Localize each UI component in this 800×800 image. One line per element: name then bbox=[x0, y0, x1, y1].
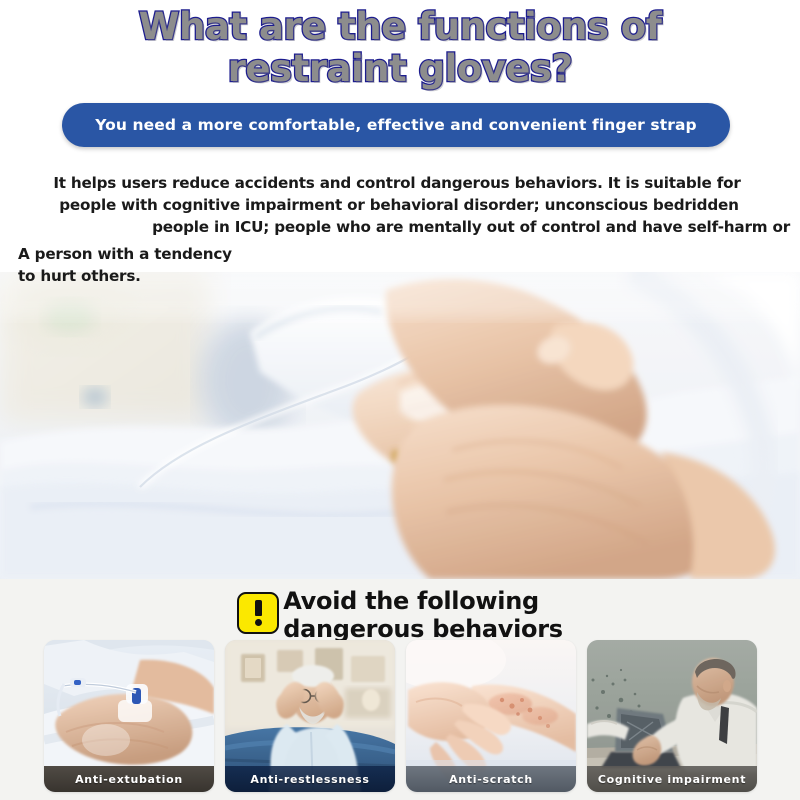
description-line-2: people with cognitive impairment or beha… bbox=[0, 194, 800, 216]
thumbnail-anti-restlessness[interactable]: Anti-restlessness bbox=[225, 640, 395, 792]
hero-photo bbox=[0, 272, 800, 579]
thumbnail-anti-scratch[interactable]: Anti-scratch bbox=[406, 640, 576, 792]
thumbnail-caption: Anti-extubation bbox=[44, 766, 214, 792]
description-line-4: A person with a tendency bbox=[0, 243, 800, 265]
thumbnail-caption: Anti-scratch bbox=[406, 766, 576, 792]
avoid-heading-text: Avoid the following dangerous behaviors bbox=[283, 585, 563, 643]
description-block: It helps users reduce accidents and cont… bbox=[0, 172, 800, 287]
avoid-heading-row: Avoid the following dangerous behaviors bbox=[0, 585, 800, 643]
hero-illustration bbox=[0, 272, 800, 579]
tagline-banner: You need a more comfortable, effective a… bbox=[62, 103, 730, 147]
behavior-thumbnail-row: Anti-extubation bbox=[44, 640, 756, 792]
infographic-page: What are the functions of restraint glov… bbox=[0, 0, 800, 800]
header-section: What are the functions of restraint glov… bbox=[0, 0, 800, 272]
thumbnail-cognitive-impairment[interactable]: Cognitive impairment bbox=[587, 640, 757, 792]
description-line-5: to hurt others. bbox=[0, 265, 800, 287]
page-title: What are the functions of restraint glov… bbox=[0, 6, 800, 90]
avoid-section: Avoid the following dangerous behaviors bbox=[0, 579, 800, 800]
warning-exclamation-icon bbox=[237, 592, 279, 634]
description-line-3: people in ICU; people who are mentally o… bbox=[0, 216, 800, 238]
thumbnail-anti-extubation[interactable]: Anti-extubation bbox=[44, 640, 214, 792]
thumbnail-caption: Cognitive impairment bbox=[587, 766, 757, 792]
description-line-1: It helps users reduce accidents and cont… bbox=[0, 172, 800, 194]
thumbnail-caption: Anti-restlessness bbox=[225, 766, 395, 792]
tagline-text: You need a more comfortable, effective a… bbox=[95, 116, 697, 134]
